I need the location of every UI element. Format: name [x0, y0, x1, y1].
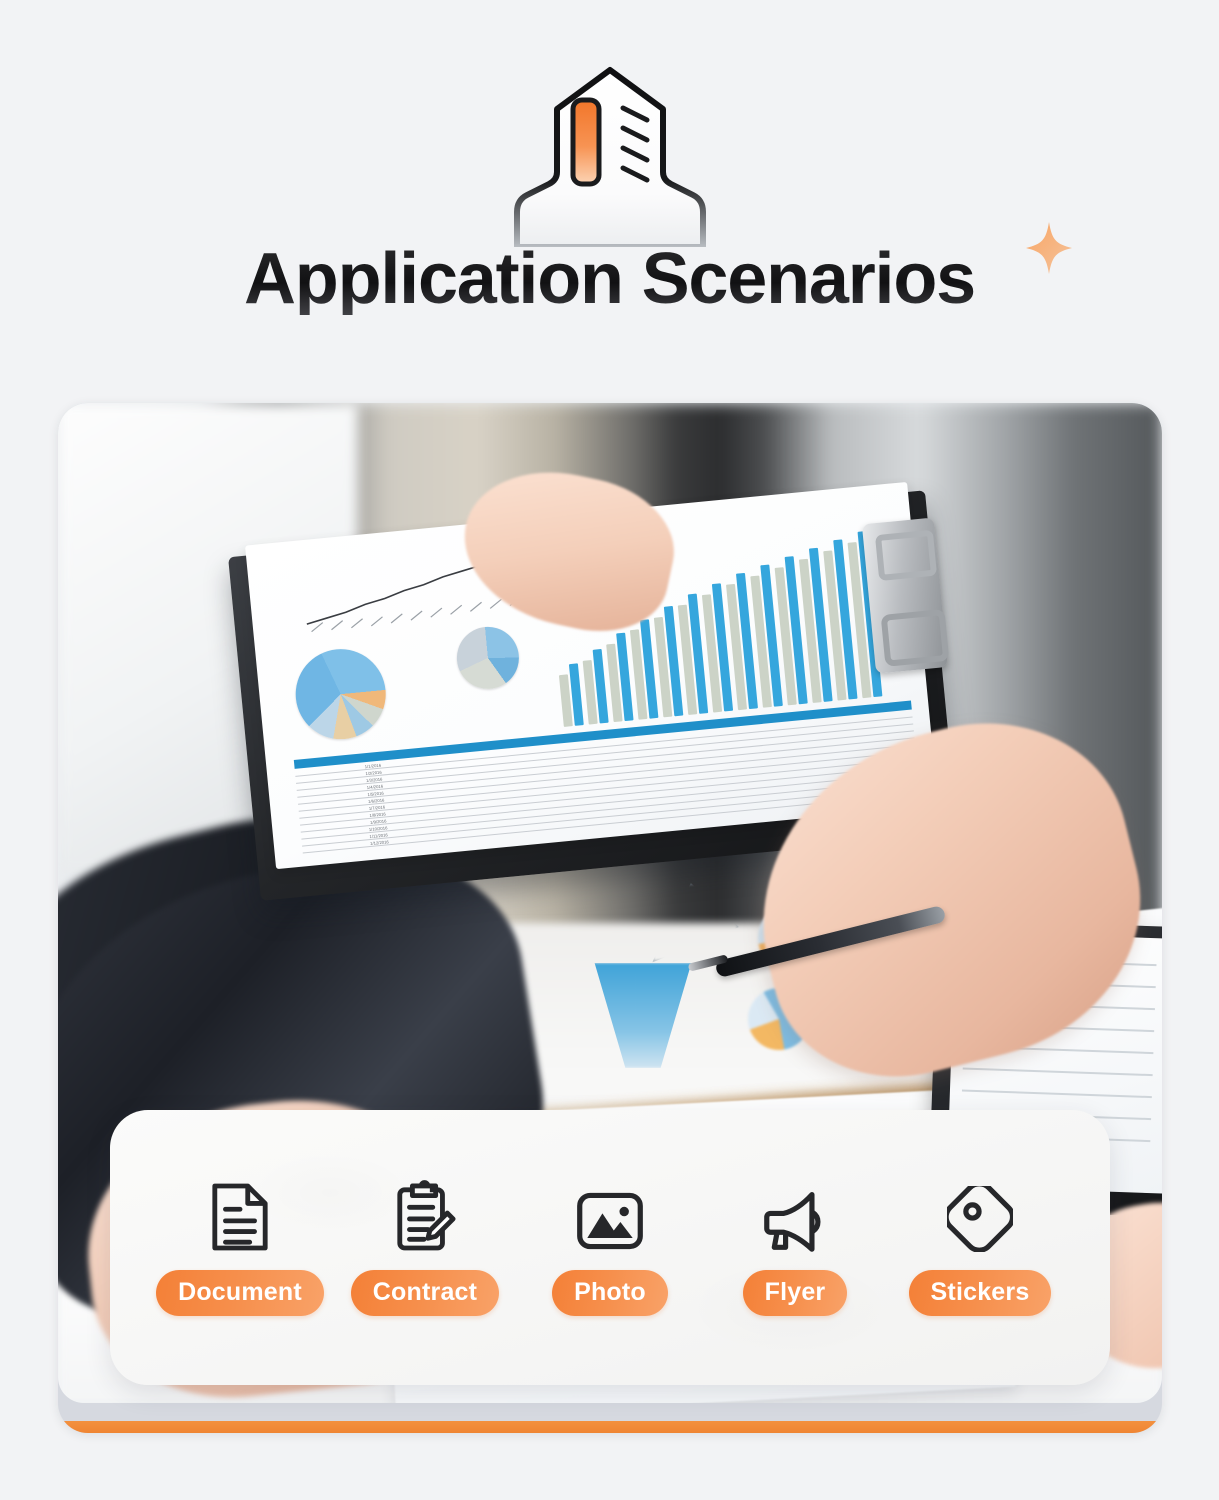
category-item-document[interactable]: Document — [148, 1180, 333, 1316]
category-label-flyer[interactable]: Flyer — [743, 1270, 848, 1316]
category-item-photo[interactable]: Photo — [518, 1180, 703, 1316]
building-icon — [495, 62, 725, 247]
category-label-stickers[interactable]: Stickers — [909, 1270, 1052, 1316]
category-label-contract[interactable]: Contract — [351, 1270, 499, 1316]
contract-icon — [393, 1180, 457, 1252]
page-title: Application Scenarios — [244, 243, 975, 315]
category-label-photo[interactable]: Photo — [552, 1270, 668, 1316]
tag-icon — [947, 1180, 1013, 1252]
header: Application Scenarios — [0, 0, 1219, 380]
page-root: Application Scenarios — [0, 0, 1219, 1500]
photo-icon — [575, 1180, 645, 1252]
sparkle-icon — [1026, 222, 1072, 274]
document-icon — [209, 1180, 271, 1252]
megaphone-icon — [759, 1180, 831, 1252]
application-categories-card: Document — [110, 1110, 1110, 1385]
category-item-flyer[interactable]: Flyer — [703, 1180, 888, 1316]
category-item-contract[interactable]: Contract — [333, 1180, 518, 1316]
clipboard-clip — [862, 518, 948, 674]
report-pie-right — [454, 624, 522, 692]
category-item-stickers[interactable]: Stickers — [888, 1180, 1073, 1316]
category-label-document[interactable]: Document — [156, 1270, 324, 1316]
category-list: Document — [110, 1110, 1110, 1385]
report-pie-left — [292, 645, 390, 743]
